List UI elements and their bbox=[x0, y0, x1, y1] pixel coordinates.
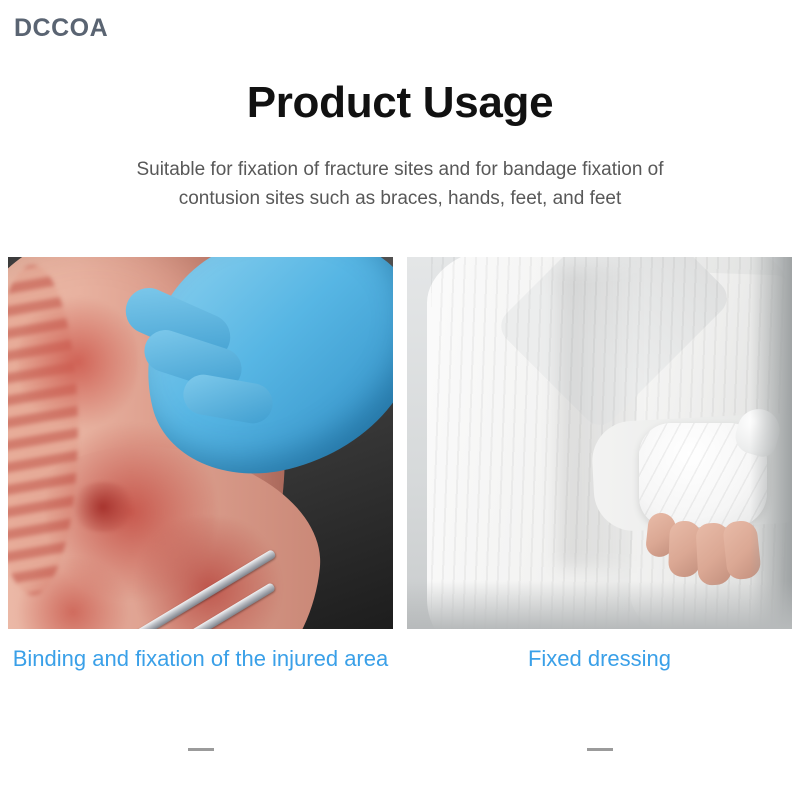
photo2-floor-shading bbox=[407, 581, 792, 629]
divider-dash bbox=[188, 748, 214, 751]
photo-injured-area bbox=[8, 257, 393, 629]
divider-dash bbox=[587, 748, 613, 751]
photo2-right-shading bbox=[750, 257, 792, 629]
product-usage-page: DCCOA Product Usage Suitable for fixatio… bbox=[0, 0, 800, 800]
caption-injured-area: Binding and fixation of the injured area bbox=[8, 643, 393, 675]
page-subtitle: Suitable for fixation of fracture sites … bbox=[100, 155, 700, 213]
usage-card-fixed-dressing: Fixed dressing bbox=[407, 257, 792, 675]
divider-row bbox=[8, 748, 792, 751]
divider-cell bbox=[8, 748, 393, 751]
brand-logo: DCCOA bbox=[14, 14, 108, 43]
photo1-wound-patch bbox=[68, 482, 138, 532]
page-title: Product Usage bbox=[0, 78, 800, 128]
usage-card-injured-area: Binding and fixation of the injured area bbox=[8, 257, 393, 675]
usage-gallery: Binding and fixation of the injured area bbox=[8, 257, 792, 675]
caption-fixed-dressing: Fixed dressing bbox=[407, 643, 792, 675]
divider-cell bbox=[407, 748, 792, 751]
photo-fixed-dressing bbox=[407, 257, 792, 629]
